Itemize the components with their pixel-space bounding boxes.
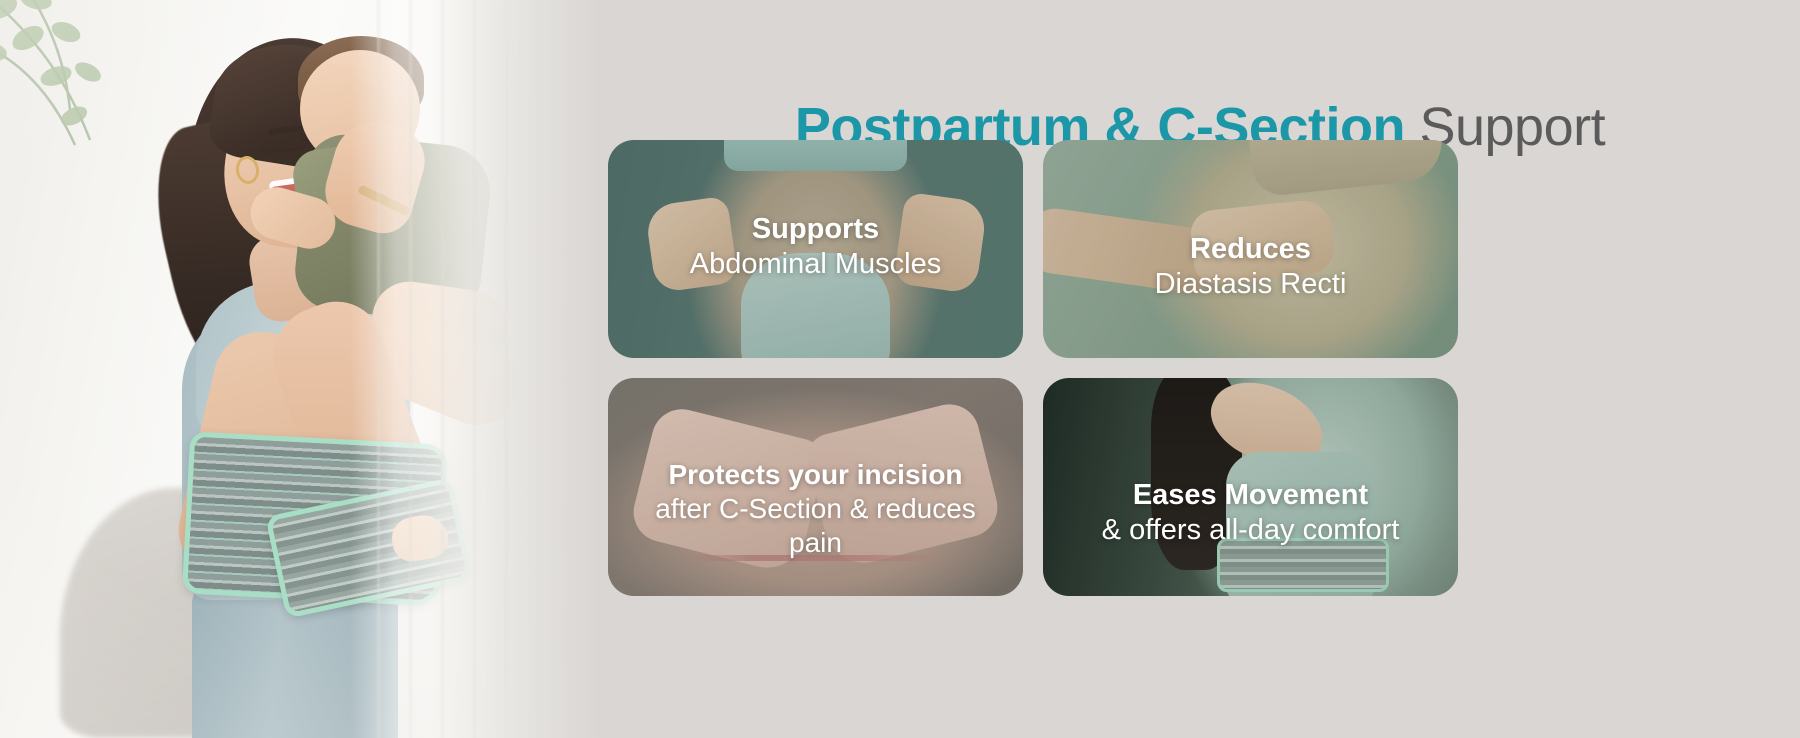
card-title: Protects your incision (626, 458, 1005, 492)
card-subtitle: after C-Section & reduces pain (626, 492, 1005, 560)
promo-banner: Postpartum & C-Section Support Supports … (0, 0, 1800, 738)
card-title: Reduces (1155, 232, 1347, 267)
card-subtitle: Abdominal Muscles (690, 247, 941, 282)
hero-photo (0, 0, 600, 738)
card-subtitle: & offers all-day comfort (1102, 513, 1400, 548)
window-curtain-decor (350, 0, 600, 738)
card-text-block: Supports Abdominal Muscles (672, 212, 959, 283)
benefit-card-protects-your-incision[interactable]: Protects your incision after C-Section &… (608, 378, 1023, 596)
benefit-card-supports-abdominal-muscles[interactable]: Supports Abdominal Muscles (608, 140, 1023, 358)
card-text-block: Protects your incision after C-Section &… (608, 458, 1023, 560)
card-subtitle: Diastasis Recti (1155, 267, 1347, 302)
benefit-card-reduces-diastasis-recti[interactable]: Reduces Diastasis Recti (1043, 140, 1458, 358)
content-panel: Postpartum & C-Section Support Supports … (600, 0, 1800, 738)
card-title: Eases Movement (1102, 478, 1400, 513)
card-text-block: Reduces Diastasis Recti (1137, 232, 1365, 303)
card-title: Supports (690, 212, 941, 247)
benefit-card-eases-movement[interactable]: Eases Movement & offers all-day comfort (1043, 378, 1458, 596)
benefit-card-grid: Supports Abdominal Muscles Reduces Diast… (608, 140, 1458, 596)
card-text-block: Eases Movement & offers all-day comfort (1084, 478, 1418, 549)
